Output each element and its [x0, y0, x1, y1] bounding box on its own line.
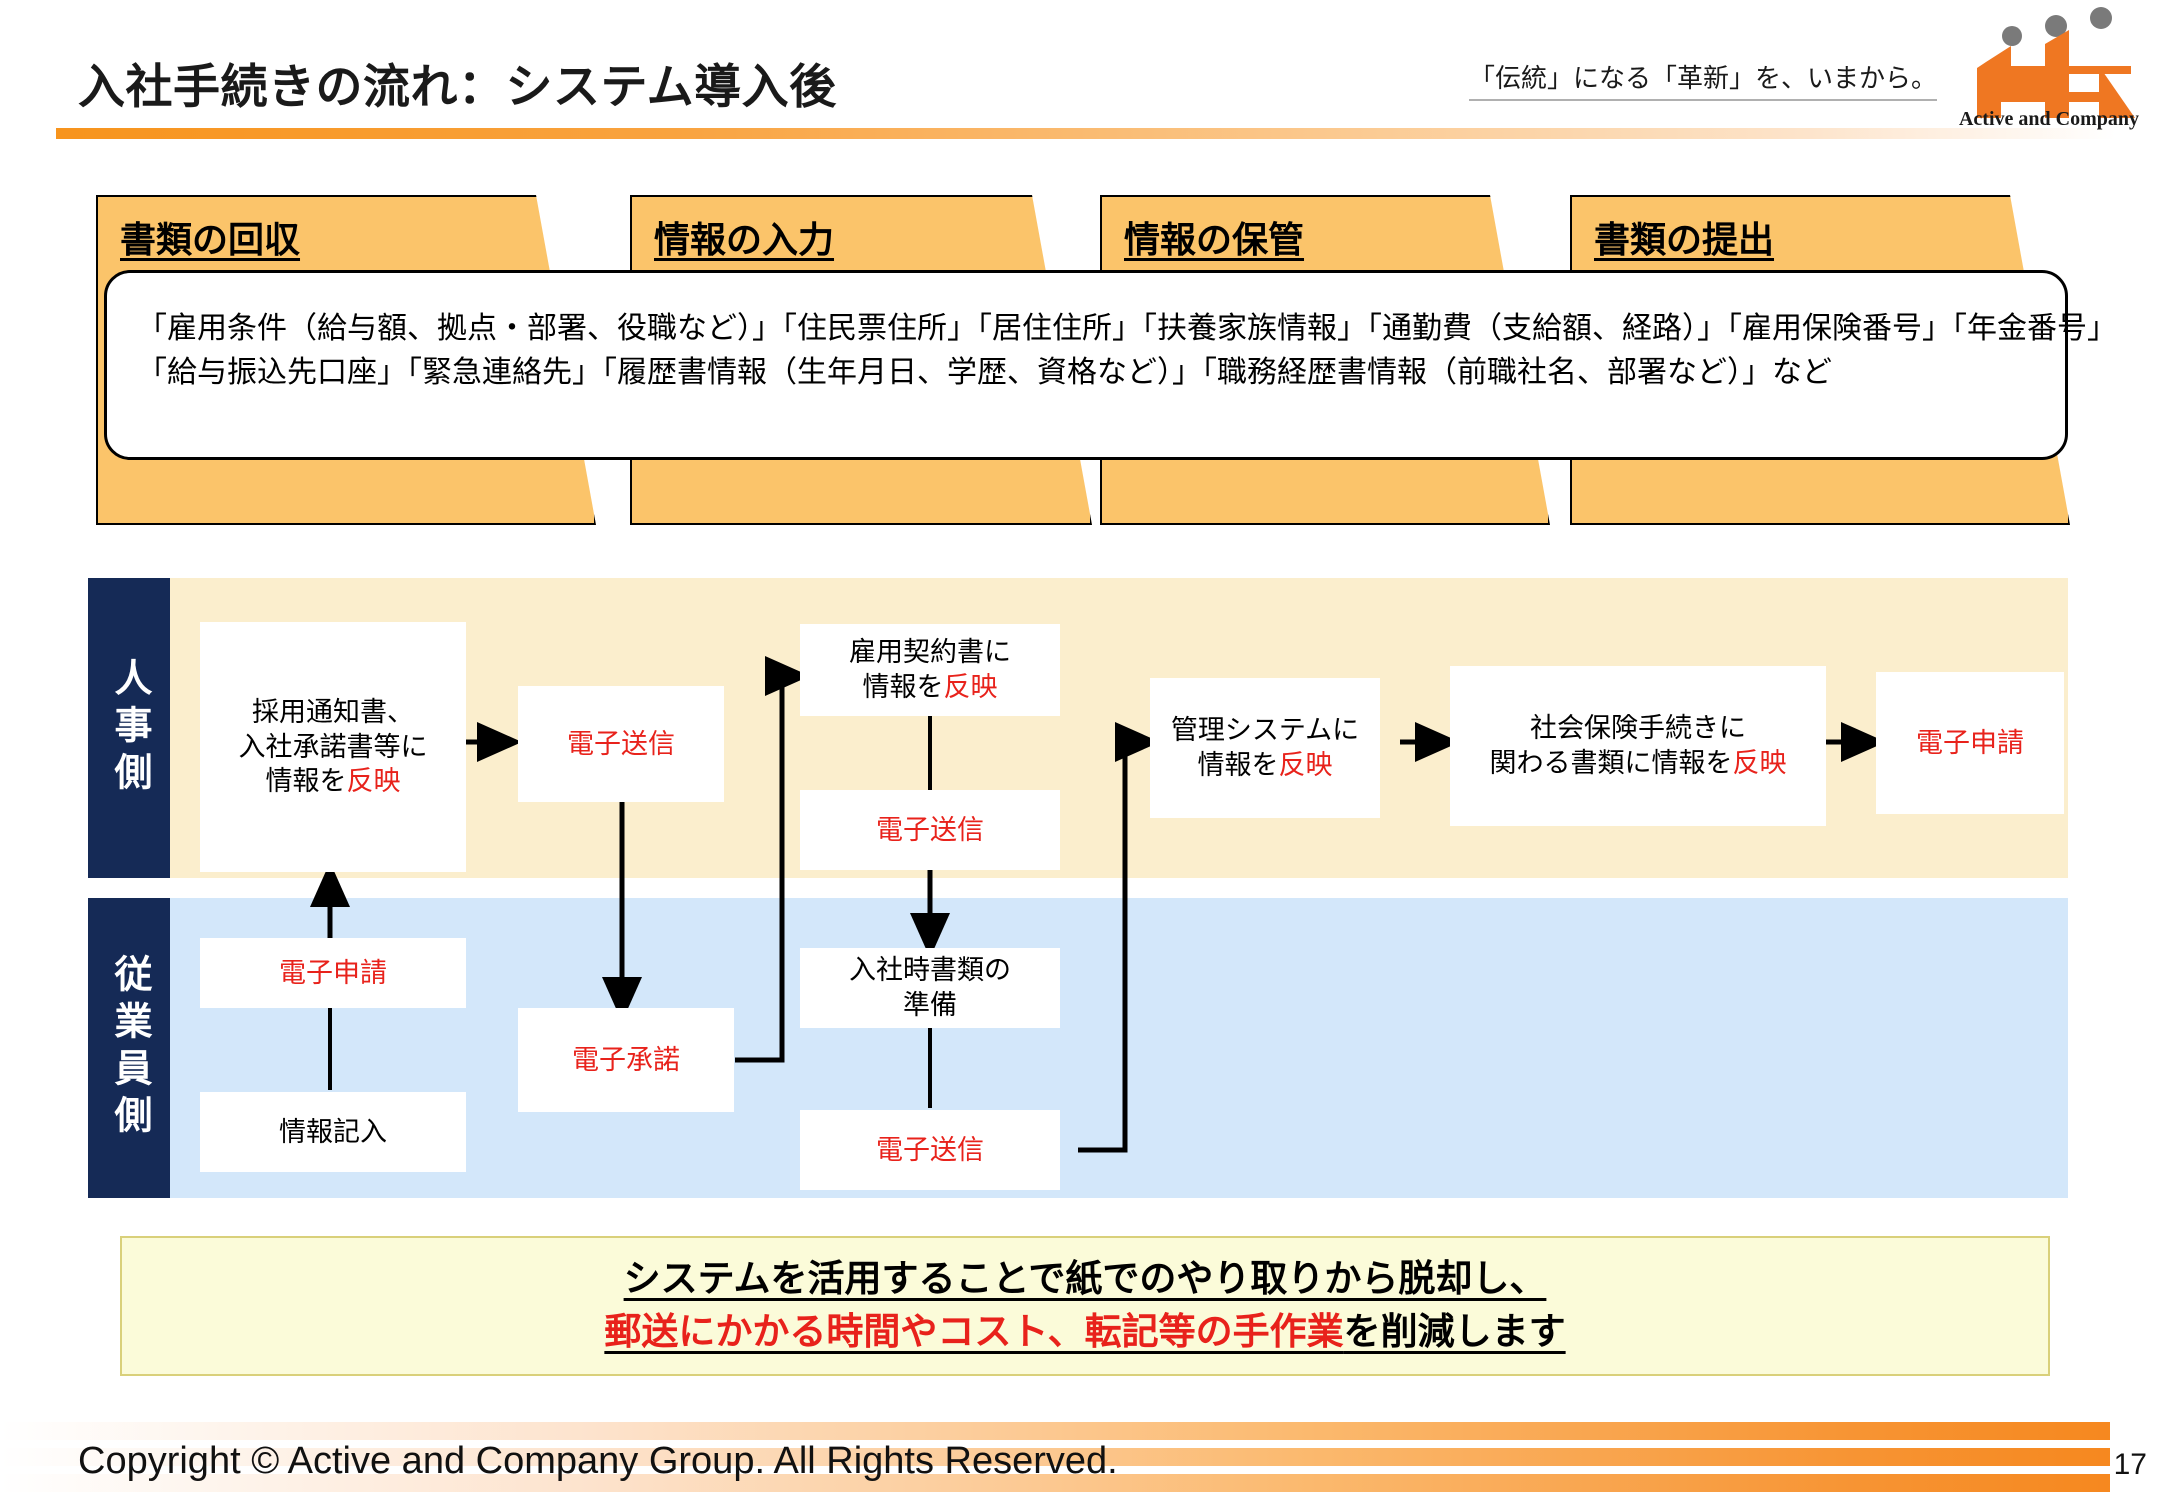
lane-label-employee-text: 従業員側 [110, 954, 148, 1142]
flow-box-hr-6-line2: 関わる書類に情報を [1490, 748, 1733, 778]
flow-box-hr-1-line2: 入社承諾書等に [239, 732, 428, 762]
flow-box-employee-4-line1: 入社時書類の [849, 955, 1011, 985]
flow-box-hr-1-line3: 情報を [266, 766, 347, 796]
flow-box-hr-5-line2-highlight: 反映 [1278, 750, 1332, 780]
page-number: 17 [2114, 1448, 2147, 1482]
flow-box-employee-4-line2: 準備 [903, 990, 957, 1020]
lane-label-employee: 従業員側 [88, 898, 170, 1198]
flow-box-hr-3: 雇用契約書に 情報を反映 [800, 624, 1060, 716]
flow-box-employee-3: 電子承諾 [518, 1008, 734, 1112]
title-underline-bar [56, 128, 2116, 139]
summary-line-2-plain: を削減します [1344, 1311, 1566, 1352]
slide-root: 入社手続きの流れ：システム導入後 「伝統」になる「革新」を、いまから。 Acti… [0, 0, 2167, 1500]
summary-line-1: システムを活用することで紙でのやり取りから脱却し、 [624, 1253, 1547, 1306]
brand-tagline: 「伝統」になる「革新」を、いまから。 [1469, 58, 1937, 101]
flow-box-hr-6-line1: 社会保険手続きに [1530, 713, 1746, 743]
flow-box-hr-7: 電子申請 [1876, 672, 2064, 814]
flow-box-hr-5: 管理システムに 情報を反映 [1150, 678, 1380, 818]
flow-box-hr-5-line2: 情報を [1197, 750, 1278, 780]
collected-information-callout: 「雇用条件（給与額、拠点・部署、役職など）」「住民票住所」「居住住所」「扶養家族… [104, 270, 2068, 460]
flow-box-employee-5: 電子送信 [800, 1110, 1060, 1190]
flow-box-employee-1: 電子申請 [200, 938, 466, 1008]
company-logo-name: Active and Company [1949, 108, 2149, 131]
flow-box-hr-3-line2: 情報を [863, 672, 944, 702]
lane-label-hr-text: 人事側 [110, 658, 148, 799]
flow-box-hr-1-line3-highlight: 反映 [347, 766, 401, 796]
flow-box-hr-5-line1: 管理システムに [1171, 715, 1359, 745]
summary-line-2: 郵送にかかる時間やコスト、転記等の手作業を削減します [604, 1306, 1565, 1359]
flow-box-hr-1: 採用通知書、 入社承諾書等に 情報を反映 [200, 622, 466, 872]
summary-line-2-highlight: 郵送にかかる時間やコスト、転記等の手作業 [604, 1311, 1343, 1352]
phase-label-4: 書類の提出 [1594, 211, 1774, 263]
flow-box-employee-2: 情報記入 [200, 1092, 466, 1172]
flow-box-hr-2: 電子送信 [518, 686, 724, 802]
phase-label-1: 書類の回収 [120, 211, 300, 263]
page-title: 入社手続きの流れ：システム導入後 [78, 48, 837, 117]
flow-box-hr-1-line1: 採用通知書、 [252, 697, 414, 727]
info-line-2: 「給与振込先口座」「緊急連絡先」「履歴書情報（生年月日、学歴、資格など）」「職務… [137, 351, 2035, 395]
phase-label-2: 情報の入力 [654, 211, 834, 263]
flow-box-hr-6: 社会保険手続きに 関わる書類に情報を反映 [1450, 666, 1826, 826]
flow-box-hr-6-line2-highlight: 反映 [1733, 748, 1787, 778]
flow-box-hr-3-line2-highlight: 反映 [944, 672, 998, 702]
footer-bar-1 [0, 1422, 2110, 1440]
summary-callout: システムを活用することで紙でのやり取りから脱却し、 郵送にかかる時間やコスト、転… [120, 1236, 2050, 1376]
info-line-1: 「雇用条件（給与額、拠点・部署、役職など）」「住民票住所」「居住住所」「扶養家族… [137, 307, 2035, 351]
copyright-text: Copyright © Active and Company Group. Al… [78, 1440, 1118, 1483]
flow-box-employee-4: 入社時書類の 準備 [800, 948, 1060, 1028]
flow-box-hr-4: 電子送信 [800, 790, 1060, 870]
lane-label-hr: 人事側 [88, 578, 170, 878]
phase-label-3: 情報の保管 [1124, 211, 1304, 263]
flow-box-hr-3-line1: 雇用契約書に [849, 637, 1011, 667]
